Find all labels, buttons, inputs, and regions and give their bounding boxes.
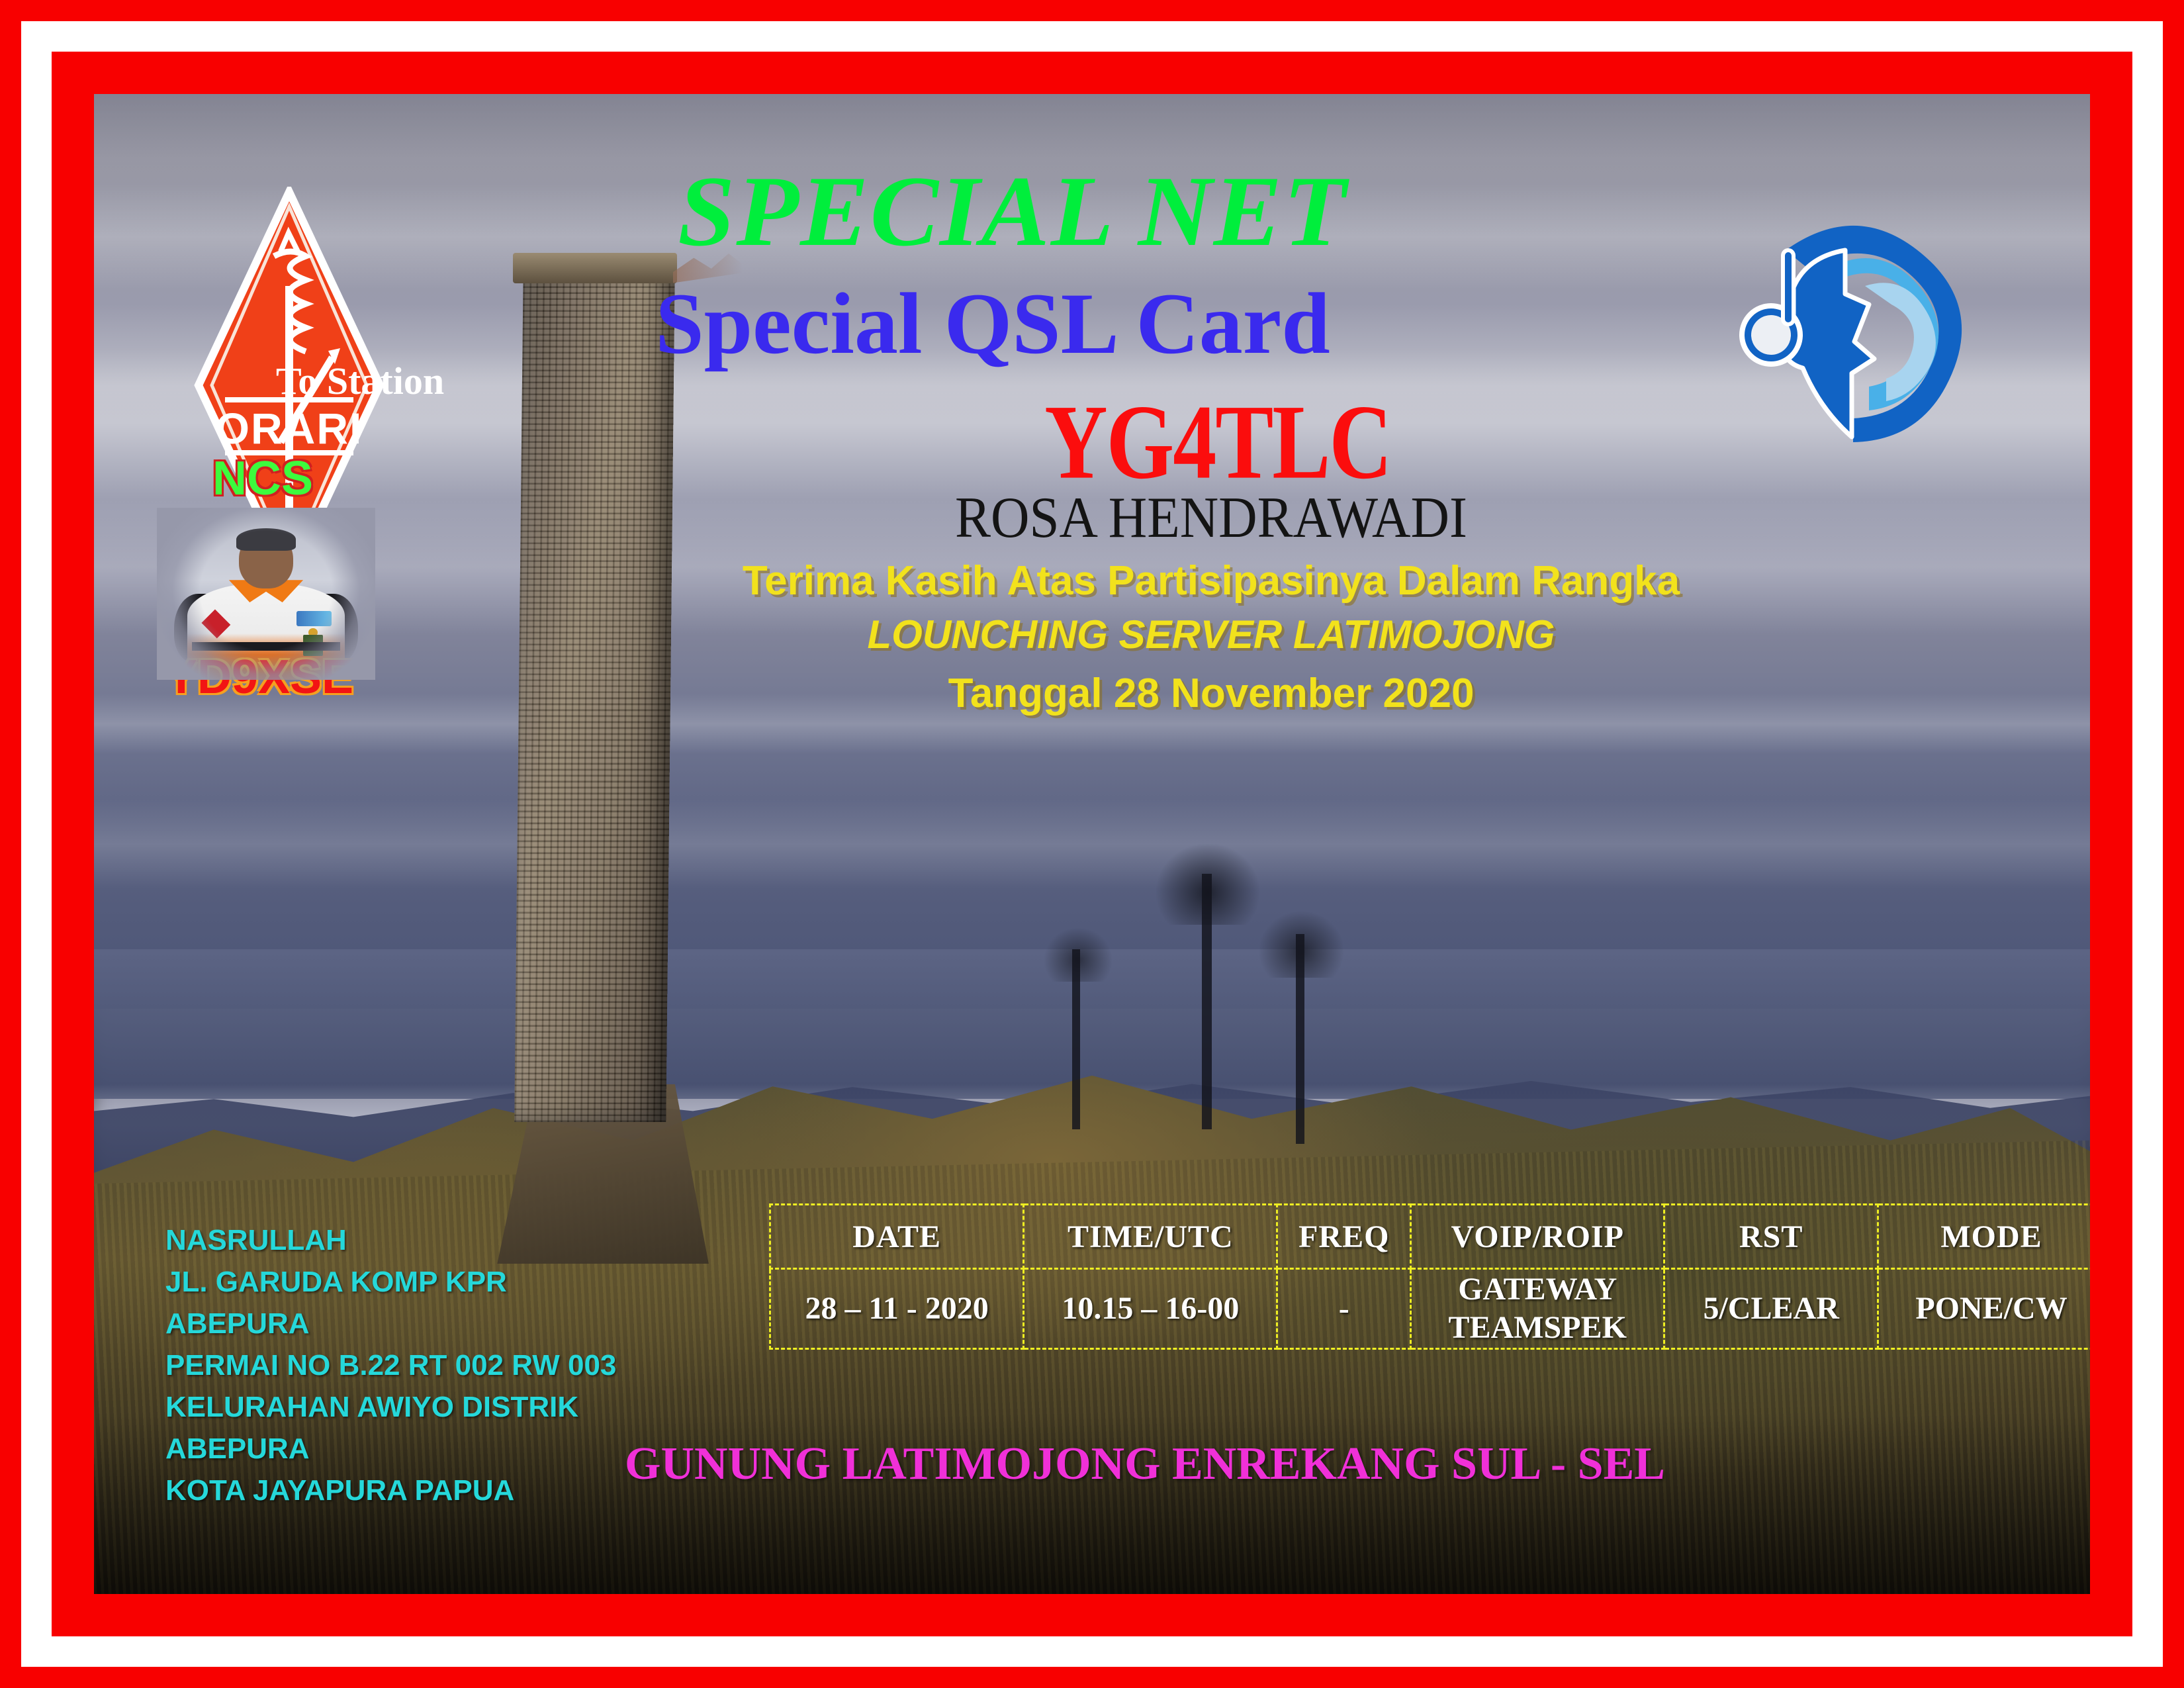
ncs-operator-photo bbox=[157, 508, 375, 680]
qsl-card: ORARI bbox=[0, 0, 2184, 1688]
thanks-line-2: LOUNCHING SERVER LATIMOJONG bbox=[213, 612, 2090, 657]
site-location: GUNUNG LATIMOJONG ENREKANG SUL - SEL bbox=[147, 1438, 2090, 1491]
column-header-mode: MODE bbox=[1878, 1205, 2090, 1269]
thanks-line-1: Terima Kasih Atas Partisipasinya Dalam R… bbox=[213, 557, 2090, 604]
column-header-rst: RST bbox=[1664, 1205, 1878, 1269]
table-header-row: DATE TIME/UTC FREQ VOIP/ROIP RST MODE bbox=[770, 1205, 2091, 1269]
cell-voip-line2: TEAMSPEK bbox=[1412, 1309, 1662, 1347]
address-line: NASRULLAH bbox=[165, 1219, 616, 1261]
column-header-voip: VOIP/ROIP bbox=[1411, 1205, 1664, 1269]
cell-time: 10.15 – 16-00 bbox=[1024, 1269, 1277, 1349]
cell-rst: 5/CLEAR bbox=[1664, 1269, 1878, 1349]
address-line: PERMAI NO B.22 RT 002 RW 003 bbox=[165, 1344, 616, 1386]
cell-mode: PONE/CW bbox=[1878, 1269, 2090, 1349]
cell-voip: GATEWAY TEAMSPEK bbox=[1411, 1269, 1664, 1349]
address-line: JL. GARUDA KOMP KPR bbox=[165, 1261, 616, 1303]
column-header-time: TIME/UTC bbox=[1024, 1205, 1277, 1269]
address-line: KELURAHAN AWIYO DISTRIK bbox=[165, 1386, 616, 1428]
card-inner-border: ORARI bbox=[52, 52, 2132, 1636]
table-row: 28 – 11 - 2020 10.15 – 16-00 - GATEWAY T… bbox=[770, 1269, 2091, 1349]
column-header-freq: FREQ bbox=[1277, 1205, 1411, 1269]
cell-date: 28 – 11 - 2020 bbox=[770, 1269, 1024, 1349]
event-date-line: Tanggal 28 November 2020 bbox=[213, 670, 2090, 717]
operator-name: ROSA HENDRAWADI bbox=[293, 485, 2090, 551]
column-header-date: DATE bbox=[770, 1205, 1024, 1269]
ncs-label: NCS bbox=[167, 451, 359, 506]
cell-freq: - bbox=[1277, 1269, 1411, 1349]
qso-log-table: DATE TIME/UTC FREQ VOIP/ROIP RST MODE 28… bbox=[769, 1203, 2090, 1350]
page-title: SPECIAL NET bbox=[94, 154, 2030, 269]
card-background-photo: ORARI bbox=[94, 94, 2090, 1594]
card-border-gap: ORARI bbox=[21, 21, 2163, 1667]
address-line: ABEPURA bbox=[165, 1303, 616, 1344]
cell-voip-line1: GATEWAY bbox=[1412, 1270, 1662, 1309]
